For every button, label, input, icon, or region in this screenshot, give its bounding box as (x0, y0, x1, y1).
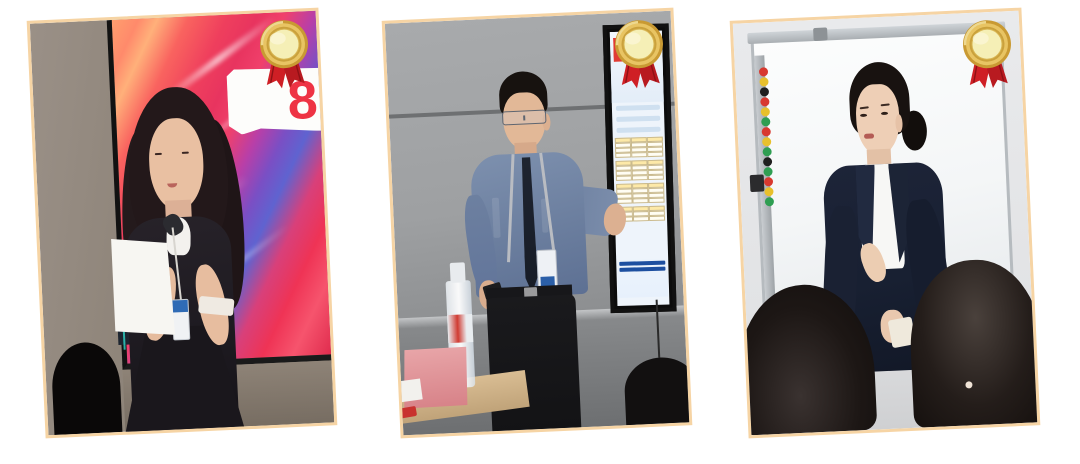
table-row (615, 175, 663, 181)
magnet-ball (764, 177, 773, 186)
eye-left (155, 153, 162, 155)
eyeglasses-icon (501, 109, 546, 125)
eye-right (182, 152, 189, 154)
photo-3-image (733, 11, 1037, 436)
magnet-ball (762, 137, 771, 146)
slide-header (609, 31, 663, 104)
paper-script (102, 233, 177, 342)
table-row (616, 198, 664, 204)
photo-2-caption: Man in blue dress shirt and tie presenti… (0, 0, 1, 1)
magnet-ball (761, 117, 770, 126)
bottle-label (447, 314, 474, 343)
magnet-ball (759, 67, 768, 76)
magnet-ball (760, 97, 769, 106)
photo-card-2[interactable] (382, 8, 693, 439)
magnet-ball (760, 77, 769, 86)
whiteboard-eraser (750, 175, 765, 192)
slide-text-line (616, 105, 660, 111)
face (855, 83, 901, 156)
name-plate (398, 344, 473, 413)
slide-text-line (616, 116, 660, 122)
photo-card-1[interactable]: 8 (27, 8, 338, 439)
photo-gallery: 8 (0, 0, 1080, 464)
fabric-fold (492, 198, 501, 238)
magnet-ball (763, 147, 772, 156)
photo-card-3[interactable] (730, 8, 1041, 439)
magnet-ball (763, 157, 772, 166)
trousers (486, 295, 582, 432)
magnet-ball (765, 197, 774, 206)
data-table (615, 160, 663, 181)
data-table (614, 137, 662, 158)
magnet-ball (764, 167, 773, 176)
slide-footer-text (617, 259, 668, 299)
photo-1-screen-number: 8 (286, 73, 316, 128)
photo-3-caption: Woman in navy blazer speaking in front o… (0, 0, 1, 1)
data-table (616, 183, 664, 204)
sleeve-cuff (198, 296, 235, 316)
slide-text-line (616, 127, 660, 133)
photo-1-caption: Woman presenting with microphone and scr… (0, 0, 1, 1)
magnet-ball (761, 107, 770, 116)
page-title: Training Session Photo Gallery (0, 0, 1, 1)
table-row (615, 152, 663, 158)
photo-2-image (385, 11, 689, 436)
magnet-ball (760, 87, 769, 96)
photo-1-image: 8 (30, 11, 334, 436)
magnet-ball (762, 127, 771, 136)
photo-1-presenter (96, 84, 272, 433)
magnet-ball (765, 187, 774, 196)
slide-accent-shape (613, 37, 650, 62)
whiteboard-clip (813, 28, 828, 41)
